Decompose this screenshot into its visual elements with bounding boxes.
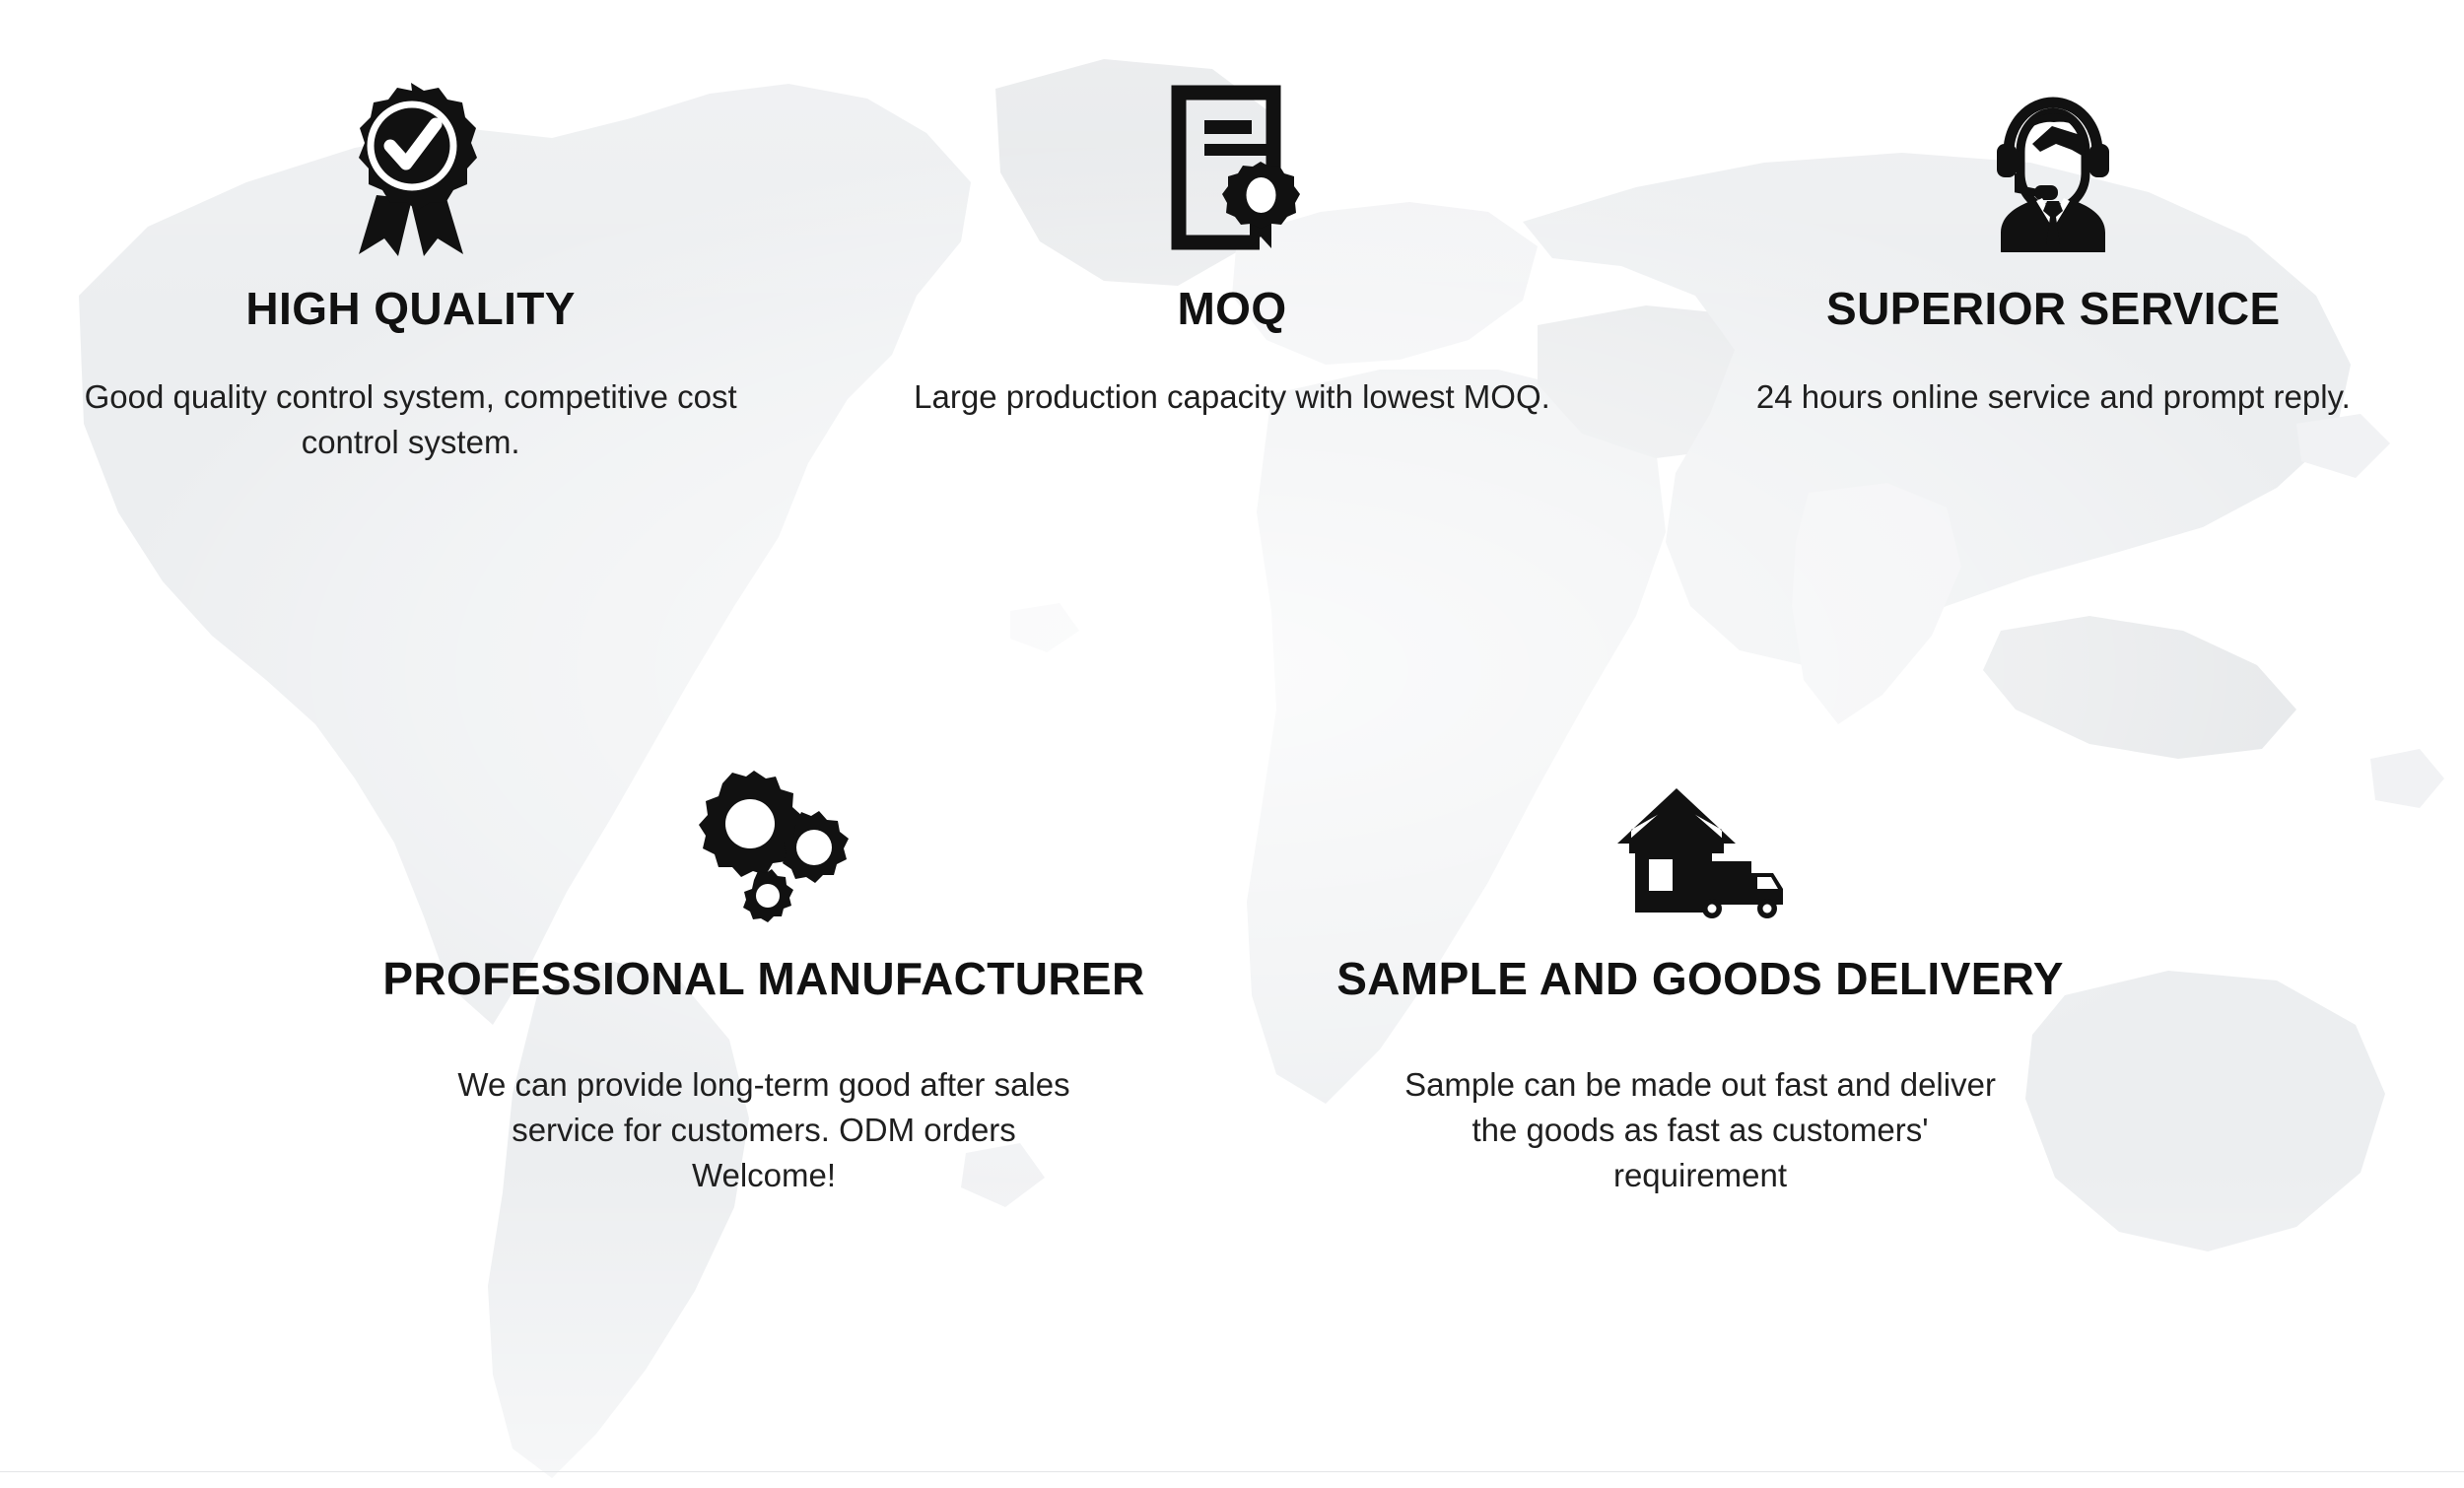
advantage-card-superior-service: SUPERIOR SERVICE 24 hours online service… (1643, 59, 2464, 465)
advantage-title: SAMPLE AND GOODS DELIVERY (1336, 954, 2064, 1005)
advantage-title: SUPERIOR SERVICE (1826, 284, 2281, 335)
advantage-description: Good quality control system, competitive… (76, 374, 746, 465)
advantage-card-sample-goods-delivery: SAMPLE AND GOODS DELIVERY Sample can be … (1232, 729, 2168, 1198)
certificate-icon (1163, 59, 1301, 256)
advantage-description: We can provide long-term good after sale… (448, 1062, 1079, 1199)
quality-badge-icon (337, 59, 485, 256)
bottom-divider (0, 1471, 2464, 1472)
advantage-title: PROFESSIONAL MANUFACTURER (382, 954, 1144, 1005)
warehouse-delivery-truck-icon (1611, 729, 1789, 926)
advantage-description: 24 hours online service and prompt reply… (1756, 374, 2351, 420)
advantage-description: Sample can be made out fast and deliver … (1385, 1062, 2016, 1199)
advantage-card-professional-manufacturer: PROFESSIONAL MANUFACTURER We can provide… (296, 729, 1232, 1198)
gears-icon (675, 729, 853, 926)
headset-support-agent-icon (1969, 59, 2137, 256)
advantages-row-bottom: PROFESSIONAL MANUFACTURER We can provide… (0, 729, 2464, 1198)
advantage-title: MOQ (1177, 284, 1286, 335)
advantage-card-moq: MOQ Large production capacity with lowes… (821, 59, 1642, 465)
advantage-card-high-quality: HIGH QUALITY Good quality control system… (0, 59, 821, 465)
advantages-row-top: HIGH QUALITY Good quality control system… (0, 59, 2464, 465)
advantage-title: HIGH QUALITY (245, 284, 575, 335)
advantages-section: HIGH QUALITY Good quality control system… (0, 0, 2464, 1488)
advantage-description: Large production capacity with lowest MO… (914, 374, 1550, 420)
